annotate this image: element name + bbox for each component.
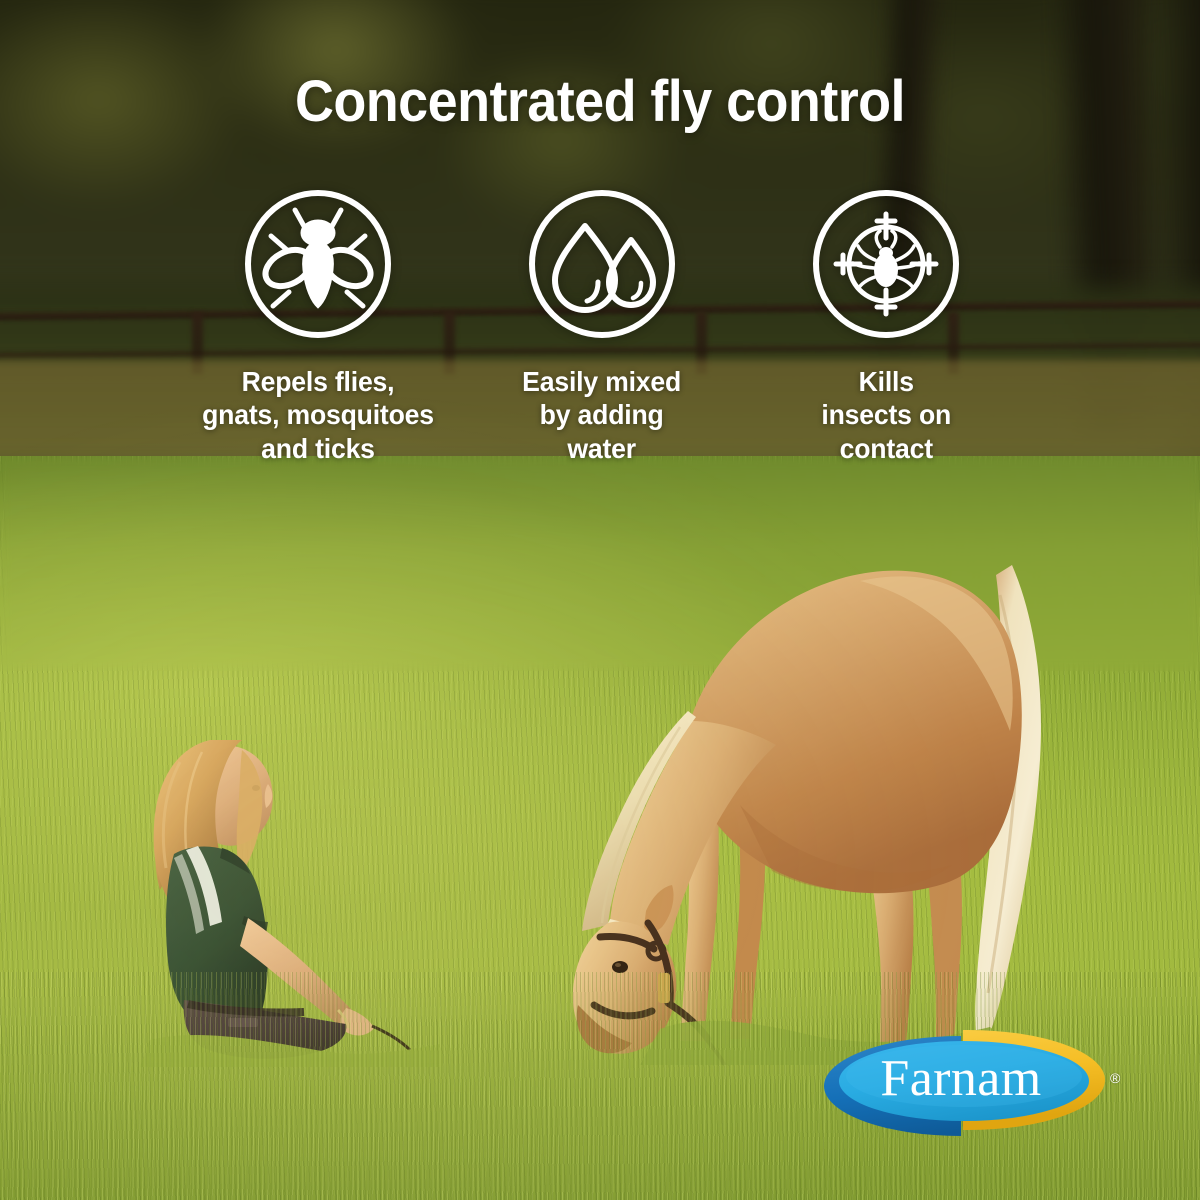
page-title: Concentrated fly control bbox=[42, 72, 1158, 132]
tick-crosshair-icon bbox=[811, 188, 961, 340]
feature-list: Repels flies, gnats, mosquitoes and tick… bbox=[182, 188, 1022, 465]
feature-caption: Easily mixed by adding water bbox=[523, 365, 682, 465]
water-droplets-icon bbox=[527, 188, 677, 340]
feature-easily-mixed: Easily mixed by adding water bbox=[466, 188, 738, 465]
feature-repels-flies: Repels flies, gnats, mosquitoes and tick… bbox=[182, 188, 454, 465]
feature-caption: Kills insects on contact bbox=[821, 365, 951, 465]
registered-trademark-symbol: ® bbox=[1110, 1070, 1120, 1086]
fly-icon bbox=[243, 188, 393, 340]
poster-canvas: Concentrated fly control bbox=[0, 0, 1200, 1200]
farnam-logo: Farnam ® bbox=[818, 1028, 1140, 1140]
feature-kills-insects: Kills insects on contact bbox=[750, 188, 1022, 465]
feature-caption: Repels flies, gnats, mosquitoes and tick… bbox=[202, 365, 434, 465]
pasture-scene-background bbox=[0, 0, 1200, 1200]
